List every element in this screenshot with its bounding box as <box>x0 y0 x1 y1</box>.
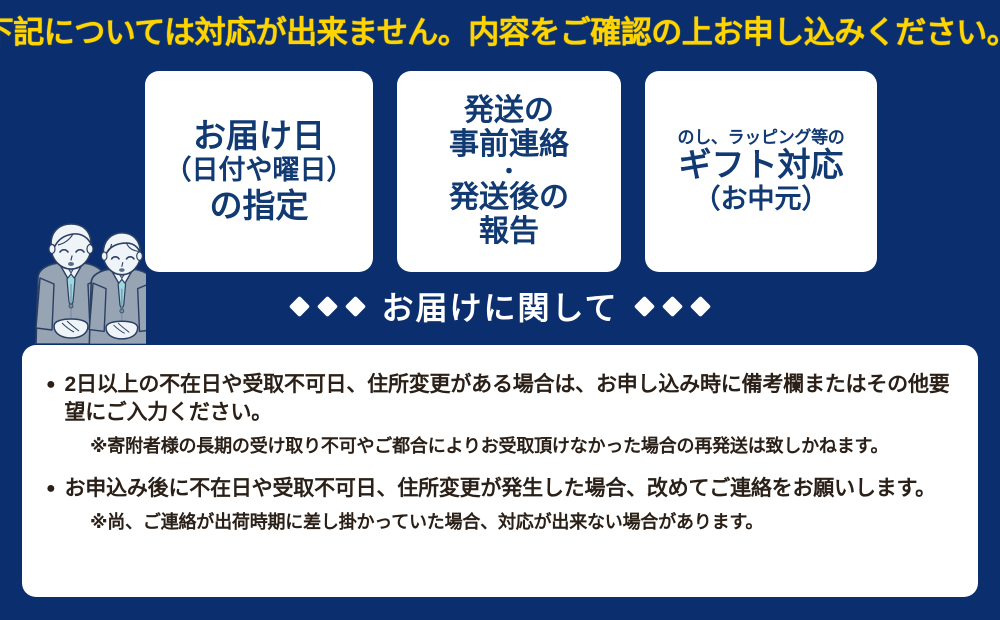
delivery-notes-panel: ● 2日以上の不在日や受取不可日、住所変更がある場合は、お申し込み時に備考欄また… <box>22 345 978 597</box>
card-delivery-date: お届け日 （日付や曜日） の指定 <box>145 71 373 272</box>
card-shipping-notice-line4: 発送後の <box>449 181 569 215</box>
note-sub-text: ※尚、ご連絡が出荷時期に差し掛かっていた場合、対応が出来ない場合があります。 <box>90 510 954 534</box>
restriction-cards-row: お届け日 （日付や曜日） の指定 発送の 事前連絡 ・ 発送後の 報告 のし、ラ… <box>145 71 877 272</box>
diamond-decor-right <box>637 299 708 314</box>
card-shipping-notice: 発送の 事前連絡 ・ 発送後の 報告 <box>397 71 621 272</box>
diamond-icon <box>633 295 654 316</box>
bullet-icon: ● <box>46 371 55 398</box>
card-delivery-date-line1: お届け日 <box>193 118 325 155</box>
card-shipping-notice-separator: ・ <box>498 162 520 182</box>
page-title: 下記については対応が出来ません。内容をご確認の上お申し込みください。 <box>0 7 1000 52</box>
card-delivery-date-line3: の指定 <box>210 188 309 225</box>
card-shipping-notice-line1: 発送の <box>464 94 554 128</box>
card-delivery-date-line2: （日付や曜日） <box>165 155 354 185</box>
diamond-decor-left <box>292 299 363 314</box>
card-gift-wrapping-line2: ギフト対応 <box>679 147 844 184</box>
card-gift-wrapping: のし、ラッピング等の ギフト対応 （お中元） <box>645 71 877 272</box>
section-heading: お届けに関して <box>0 282 1000 330</box>
note-item: ● お申込み後に不在日や受取不可日、住所変更が発生した場合、改めてご連絡をお願い… <box>46 475 954 534</box>
card-shipping-notice-line2: 事前連絡 <box>449 128 569 162</box>
note-main-text: お申込み後に不在日や受取不可日、住所変更が発生した場合、改めてご連絡をお願いしま… <box>64 475 954 503</box>
note-main-row: ● お申込み後に不在日や受取不可日、住所変更が発生した場合、改めてご連絡をお願い… <box>46 475 954 503</box>
diamond-icon <box>661 295 682 316</box>
section-heading-text: お届けに関して <box>381 283 618 329</box>
header-banner: 下記については対応が出来ません。内容をご確認の上お申し込みください。 <box>0 0 1000 58</box>
diamond-icon <box>289 295 310 316</box>
card-gift-wrapping-line3: （お中元） <box>694 184 829 214</box>
note-main-text: 2日以上の不在日や受取不可日、住所変更がある場合は、お申し込み時に備考欄またはそ… <box>64 371 954 427</box>
diamond-icon <box>689 295 710 316</box>
diamond-icon <box>345 295 366 316</box>
card-gift-wrapping-line1: のし、ラッピング等の <box>678 128 845 147</box>
card-shipping-notice-line5: 報告 <box>479 215 539 249</box>
diamond-icon <box>317 295 338 316</box>
note-item: ● 2日以上の不在日や受取不可日、住所変更がある場合は、お申し込み時に備考欄また… <box>46 371 954 459</box>
note-main-row: ● 2日以上の不在日や受取不可日、住所変更がある場合は、お申し込み時に備考欄また… <box>46 371 954 427</box>
bullet-icon: ● <box>46 475 55 502</box>
note-sub-text: ※寄附者様の長期の受け取り不可やご都合によりお受取頂けなかった場合の再発送は致し… <box>90 434 954 458</box>
